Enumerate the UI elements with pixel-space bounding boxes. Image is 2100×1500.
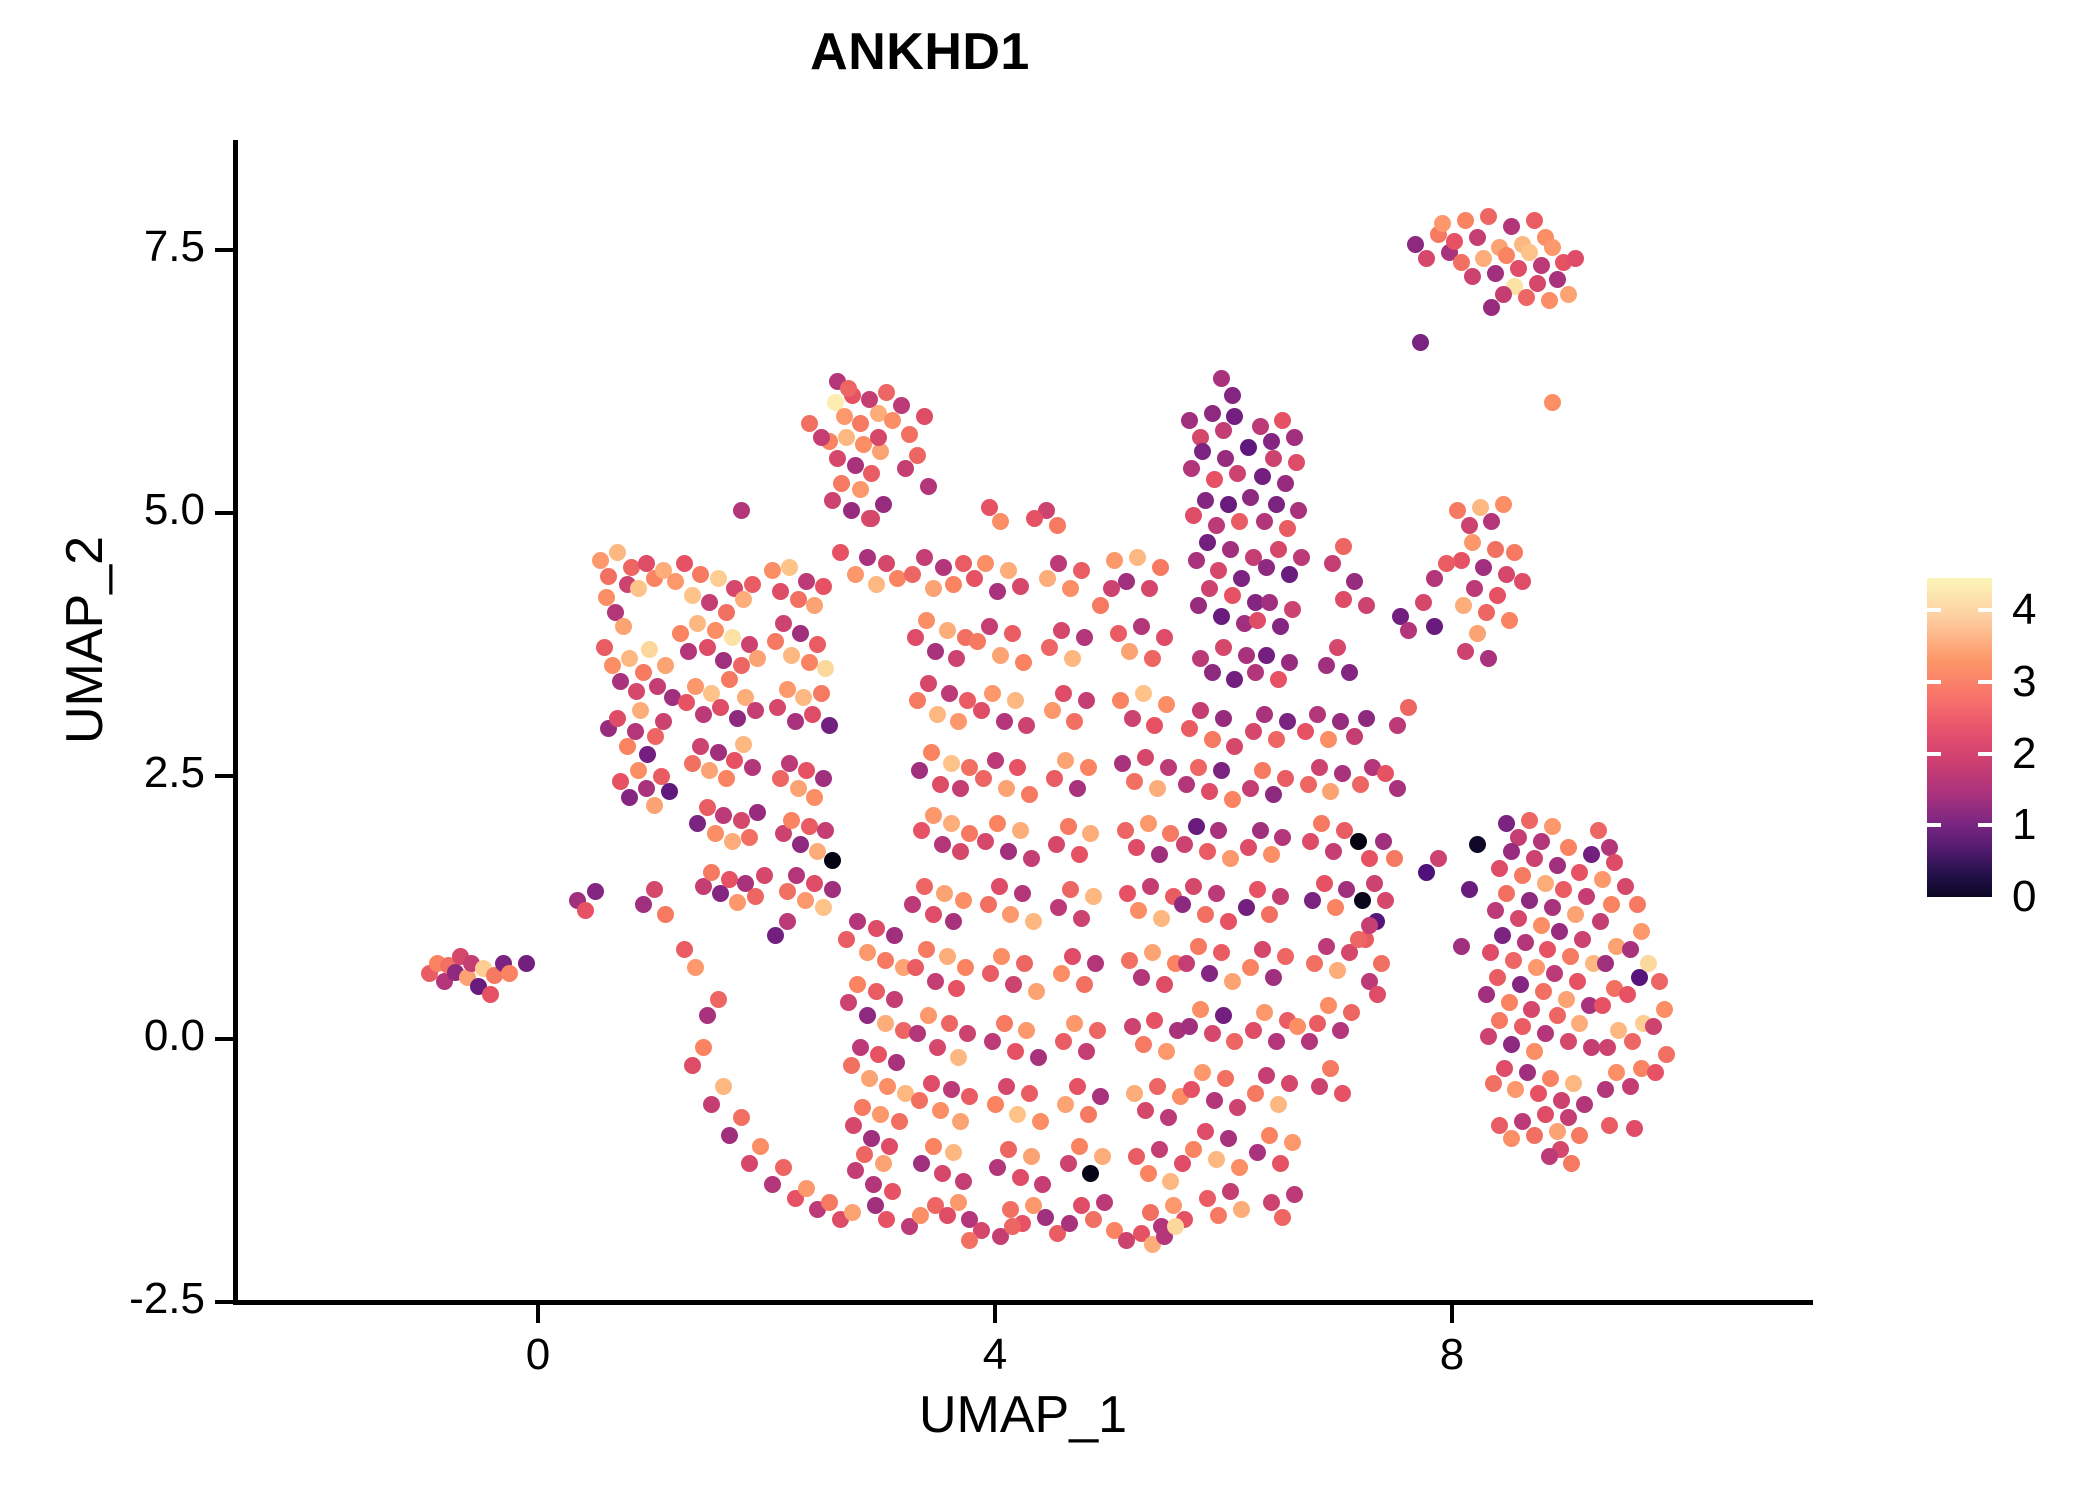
scatter-point [884, 1183, 901, 1200]
scatter-point [647, 728, 664, 745]
scatter-point [1240, 839, 1257, 856]
scatter-point [801, 818, 818, 835]
scatter-point [980, 896, 997, 913]
scatter-point [1438, 555, 1455, 572]
scatter-point [635, 664, 652, 681]
scatter-point [1549, 857, 1566, 874]
scatter-point [1583, 1039, 1600, 1056]
y-axis-title: UMAP_2 [55, 360, 115, 920]
scatter-point [1039, 570, 1056, 587]
colorbar-tick-label: 3 [2012, 657, 2036, 707]
scatter-point [1213, 944, 1230, 961]
scatter-point [1551, 923, 1568, 940]
scatter-point [1252, 418, 1269, 435]
scatter-point [984, 685, 1001, 702]
scatter-point [941, 685, 958, 702]
scatter-point [1062, 881, 1079, 898]
scatter-point [1483, 299, 1500, 316]
scatter-point [1114, 755, 1131, 772]
scatter-point [1542, 1070, 1559, 1087]
scatter-point [1023, 850, 1040, 867]
scatter-point [1129, 549, 1146, 566]
scatter-point [1158, 1043, 1175, 1060]
scatter-point [783, 812, 800, 829]
scatter-point [1053, 965, 1070, 982]
scatter-point [1135, 1036, 1152, 1053]
scatter-point [1213, 608, 1230, 625]
scatter-point [1217, 1070, 1234, 1087]
scatter-point [977, 833, 994, 850]
scatter-point [957, 959, 974, 976]
scatter-point [1066, 713, 1083, 730]
scatter-point [1400, 699, 1417, 716]
scatter-point [996, 713, 1013, 730]
scatter-point [598, 589, 615, 606]
scatter-point [1087, 955, 1104, 972]
scatter-point [943, 815, 960, 832]
scatter-point [1335, 591, 1352, 608]
scatter-point [1208, 1151, 1225, 1168]
scatter-point [935, 559, 952, 576]
colorbar-tick-mark [1927, 752, 1941, 756]
scatter-point [849, 976, 866, 993]
scatter-point [1245, 1022, 1262, 1039]
scatter-point [1533, 917, 1550, 934]
scatter-point [1135, 685, 1152, 702]
scatter-point [1210, 822, 1227, 839]
scatter-point [726, 752, 743, 769]
scatter-point [870, 1046, 887, 1063]
scatter-point [1272, 888, 1289, 905]
scatter-point [1233, 1201, 1250, 1218]
scatter-point [1199, 534, 1216, 551]
scatter-point [1565, 1075, 1582, 1092]
scatter-point [843, 1057, 860, 1074]
scatter-point [1541, 1148, 1558, 1165]
scatter-point [1204, 664, 1221, 681]
scatter-point [1498, 815, 1515, 832]
scatter-point [1284, 601, 1301, 618]
scatter-point [703, 1096, 720, 1113]
scatter-point [1526, 1043, 1543, 1060]
scatter-point [767, 633, 784, 650]
scatter-point [1030, 1049, 1047, 1066]
scatter-point [1073, 910, 1090, 927]
scatter-point [1126, 773, 1143, 790]
scatter-point [1126, 1085, 1143, 1102]
scatter-point [1220, 496, 1237, 513]
scatter-point [1334, 765, 1351, 782]
scatter-point [1103, 580, 1120, 597]
scatter-point [741, 1155, 758, 1172]
colorbar-tick-label: 2 [2012, 729, 2036, 779]
scatter-point [699, 799, 716, 816]
scatter-point [1004, 1218, 1021, 1235]
scatter-point [1297, 723, 1314, 740]
scatter-point [792, 625, 809, 642]
scatter-point [1263, 1194, 1280, 1211]
scatter-point [1505, 952, 1522, 969]
scatter-point [721, 1127, 738, 1144]
scatter-point [1343, 1004, 1360, 1021]
umap-feature-plot: ANKHD1 -2.50.02.55.07.5 048 UMAP_2 UMAP_… [0, 0, 2100, 1500]
scatter-point [1498, 566, 1515, 583]
scatter-point [1178, 776, 1195, 793]
y-tick-label: 7.5 [0, 222, 205, 272]
scatter-point [1277, 948, 1294, 965]
scatter-point [1503, 843, 1520, 860]
scatter-point [1060, 1155, 1077, 1172]
scatter-point [1112, 692, 1129, 709]
scatter-point [907, 959, 924, 976]
scatter-point [1483, 513, 1500, 530]
scatter-point [1517, 934, 1534, 951]
scatter-point [1290, 502, 1307, 519]
scatter-point [1197, 906, 1214, 923]
scatter-point [801, 654, 818, 671]
scatter-point [1071, 846, 1088, 863]
scatter-point [1475, 559, 1492, 576]
scatter-point [592, 552, 609, 569]
scatter-point [1249, 1144, 1266, 1161]
scatter-point [1213, 762, 1230, 779]
scatter-point [981, 618, 998, 635]
scatter-point [1023, 1148, 1040, 1165]
scatter-point [1165, 1197, 1182, 1214]
scatter-point [1082, 825, 1099, 842]
scatter-point [939, 948, 956, 965]
scatter-point [1300, 776, 1317, 793]
scatter-point [1256, 513, 1273, 530]
scatter-point [1224, 387, 1241, 404]
scatter-point [854, 1099, 871, 1116]
scatter-point [1158, 696, 1175, 713]
scatter-point [1281, 1075, 1298, 1092]
scatter-point [756, 867, 773, 884]
scatter-point [1352, 776, 1369, 793]
scatter-point [609, 710, 626, 727]
scatter-point [721, 671, 738, 688]
scatter-point [744, 759, 761, 776]
scatter-point [1242, 959, 1259, 976]
scatter-point [1144, 650, 1161, 667]
colorbar-tick-label: 0 [2012, 872, 2036, 922]
scatter-point [687, 959, 704, 976]
scatter-point [783, 647, 800, 664]
scatter-point [1222, 541, 1239, 558]
scatter-point [1369, 986, 1386, 1003]
scatter-point [1624, 1033, 1641, 1050]
scatter-point [1631, 969, 1648, 986]
scatter-point [1514, 1113, 1531, 1130]
scatter-point [868, 576, 885, 593]
scatter-point [630, 762, 647, 779]
scatter-point [1089, 1022, 1106, 1039]
scatter-point [1491, 1012, 1508, 1029]
scatter-point [744, 576, 761, 593]
scatter-point [859, 1007, 876, 1024]
scatter-point [1000, 562, 1017, 579]
scatter-point [1146, 717, 1163, 734]
scatter-point [1256, 706, 1273, 723]
scatter-point [1190, 759, 1207, 776]
scatter-point [1034, 1176, 1051, 1193]
scatter-point [1651, 973, 1668, 990]
scatter-point [923, 744, 940, 761]
scatter-point [969, 633, 986, 650]
scatter-point [1562, 948, 1579, 965]
scatter-point [680, 643, 697, 660]
scatter-point [1518, 289, 1535, 306]
scatter-point [1514, 573, 1531, 590]
scatter-point [806, 789, 823, 806]
scatter-point [1048, 836, 1065, 853]
scatter-point [715, 652, 732, 669]
scatter-point [961, 825, 978, 842]
scatter-point [710, 744, 727, 761]
scatter-point [1449, 502, 1466, 519]
scatter-point [1316, 875, 1333, 892]
scatter-point [913, 1155, 930, 1172]
scatter-point [1028, 983, 1045, 1000]
scatter-point [878, 1211, 895, 1228]
colorbar-tick-mark [1978, 608, 1992, 612]
scatter-point [1254, 941, 1271, 958]
scatter-point [1501, 612, 1518, 629]
scatter-point [596, 639, 613, 656]
scatter-point [1071, 1138, 1088, 1155]
scatter-point [1309, 1015, 1326, 1032]
scatter-point [901, 426, 918, 443]
scatter-point [817, 822, 834, 839]
scatter-point [1281, 566, 1298, 583]
scatter-point [1183, 1081, 1200, 1098]
scatter-point [1553, 1092, 1570, 1109]
scatter-point [1185, 878, 1202, 895]
scatter-point [1137, 1102, 1154, 1119]
scatter-point [1128, 839, 1145, 856]
scatter-point [790, 780, 807, 797]
scatter-point [1506, 544, 1523, 561]
scatter-point [1270, 541, 1287, 558]
scatter-point [1434, 215, 1451, 232]
scatter-point [733, 502, 750, 519]
scatter-point [998, 780, 1015, 797]
scatter-point [1085, 1211, 1102, 1228]
scatter-point [1560, 1109, 1577, 1126]
scatter-point [932, 776, 949, 793]
scatter-point [635, 896, 652, 913]
y-tick-label: 0.0 [0, 1011, 205, 1061]
scatter-point [1457, 212, 1474, 229]
scatter-point [1046, 770, 1063, 787]
scatter-point [1277, 770, 1294, 787]
scatter-point [1137, 749, 1154, 766]
scatter-panel [238, 140, 1813, 1300]
scatter-point [838, 429, 855, 446]
scatter-point [1238, 899, 1255, 916]
scatter-point [1571, 1015, 1588, 1032]
scatter-point [1092, 597, 1109, 614]
scatter-point [1503, 1036, 1520, 1053]
scatter-point [775, 615, 792, 632]
scatter-point [1346, 728, 1363, 745]
scatter-point [1210, 1207, 1227, 1224]
scatter-point [1258, 1067, 1275, 1084]
scatter-point [1192, 650, 1209, 667]
scatter-point [1453, 938, 1470, 955]
scatter-point [1594, 997, 1611, 1014]
scatter-point [1210, 562, 1227, 579]
scatter-point [1190, 938, 1207, 955]
scatter-point [863, 465, 880, 482]
scatter-point [1558, 991, 1575, 1008]
scatter-point [1199, 843, 1216, 860]
scatter-point [1507, 1081, 1524, 1098]
scatter-point [1215, 639, 1232, 656]
scatter-point [1455, 597, 1472, 614]
scatter-point [973, 702, 990, 719]
scatter-point [764, 1176, 781, 1193]
scatter-point [1498, 885, 1515, 902]
y-tick-mark [215, 1300, 233, 1304]
scatter-point [1592, 913, 1609, 930]
scatter-point [1375, 833, 1392, 850]
scatter-point [1265, 969, 1282, 986]
scatter-point [1004, 625, 1021, 642]
scatter-point [655, 713, 672, 730]
scatter-point [1215, 1007, 1232, 1024]
scatter-point [1324, 555, 1341, 572]
scatter-point [945, 913, 962, 930]
scatter-point [1119, 885, 1136, 902]
scatter-point [961, 1232, 978, 1249]
x-tick-mark [536, 1305, 540, 1323]
scatter-point [1094, 1148, 1111, 1165]
scatter-point [1000, 1141, 1017, 1158]
scatter-point [945, 1144, 962, 1161]
scatter-point [729, 894, 746, 911]
scatter-point [991, 878, 1008, 895]
scatter-point [1073, 1197, 1090, 1214]
scatter-point [863, 510, 880, 527]
scatter-point [952, 780, 969, 797]
colorbar-tick-mark [1978, 823, 1992, 827]
scatter-point [806, 875, 823, 892]
scatter-point [676, 555, 693, 572]
scatter-point [701, 594, 718, 611]
scatter-point [1064, 650, 1081, 667]
scatter-point [878, 384, 895, 401]
scatter-point [1151, 1141, 1168, 1158]
scatter-point [1358, 710, 1375, 727]
scatter-point [747, 702, 764, 719]
scatter-point [1494, 927, 1511, 944]
scatter-point [1514, 867, 1531, 884]
scatter-point [1302, 833, 1319, 850]
scatter-point [1130, 902, 1147, 919]
scatter-point [948, 980, 965, 997]
scatter-point [1358, 597, 1375, 614]
scatter-point [884, 412, 901, 429]
scatter-point [1249, 612, 1266, 629]
scatter-point [1261, 594, 1278, 611]
scatter-point [1373, 955, 1390, 972]
scatter-point [1640, 955, 1657, 972]
scatter-point [649, 678, 666, 695]
scatter-point [1480, 208, 1497, 225]
scatter-point [628, 683, 645, 700]
colorbar-tick-mark [1927, 680, 1941, 684]
x-tick-label: 4 [983, 1330, 1007, 1380]
scatter-point [1141, 580, 1158, 597]
scatter-point [909, 1025, 926, 1042]
scatter-point [872, 443, 889, 460]
scatter-point [1608, 1064, 1625, 1081]
scatter-point [1231, 1159, 1248, 1176]
scatter-point [707, 622, 724, 639]
scatter-point [1601, 1117, 1618, 1134]
scatter-point [934, 1165, 951, 1182]
scatter-point [1274, 829, 1291, 846]
scatter-point [1160, 1109, 1177, 1126]
scatter-point [1055, 685, 1072, 702]
scatter-point [1544, 239, 1561, 256]
scatter-point [1530, 1085, 1547, 1102]
scatter-point [1062, 580, 1079, 597]
scatter-point [1082, 1165, 1099, 1182]
scatter-point [639, 746, 656, 763]
scatter-point [1226, 738, 1243, 755]
scatter-point [1002, 906, 1019, 923]
scatter-point [996, 1015, 1013, 1032]
scatter-point [934, 836, 951, 853]
scatter-point [1574, 931, 1591, 948]
scatter-point [1329, 962, 1346, 979]
scatter-point [877, 952, 894, 969]
scatter-point [684, 1057, 701, 1074]
scatter-point [913, 822, 930, 839]
scatter-point [767, 927, 784, 944]
scatter-point [1265, 786, 1282, 803]
scatter-point [781, 559, 798, 576]
scatter-point [621, 650, 638, 667]
scatter-point [638, 780, 655, 797]
scatter-point [1012, 822, 1029, 839]
scatter-point [955, 555, 972, 572]
scatter-point [1301, 1033, 1318, 1050]
scatter-point [1041, 639, 1058, 656]
scatter-point [1495, 496, 1512, 513]
scatter-point [701, 762, 718, 779]
scatter-point [925, 906, 942, 923]
scatter-point [1320, 997, 1337, 1014]
scatter-point [925, 1138, 942, 1155]
scatter-point [806, 597, 823, 614]
scatter-point [1076, 976, 1093, 993]
scatter-point [1268, 1033, 1285, 1050]
scatter-point [1272, 618, 1289, 635]
scatter-point [1124, 710, 1141, 727]
scatter-point [923, 1075, 940, 1092]
scatter-point [1322, 783, 1339, 800]
scatter-point [1265, 450, 1282, 467]
scatter-point [689, 815, 706, 832]
scatter-point [1606, 854, 1623, 871]
scatter-point [604, 657, 621, 674]
scatter-point [1288, 454, 1305, 471]
scatter-point [1018, 717, 1035, 734]
